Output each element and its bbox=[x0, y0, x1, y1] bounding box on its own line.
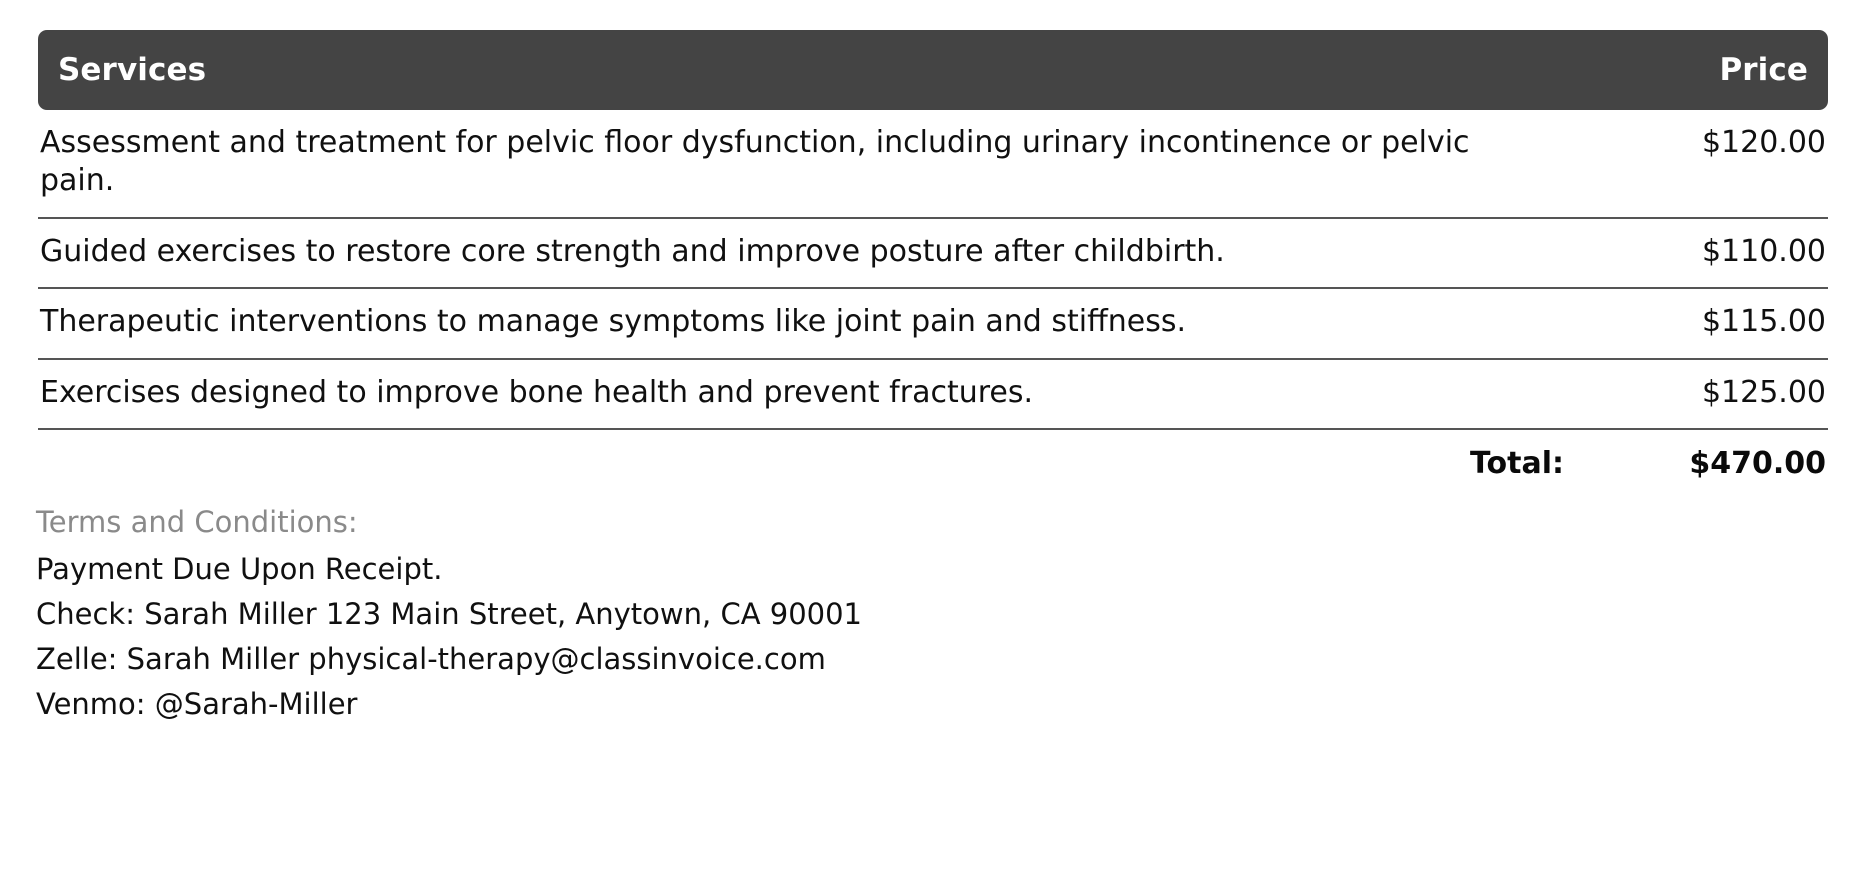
total-row: Total: $470.00 bbox=[38, 430, 1828, 481]
table-header-row: Services Price bbox=[38, 30, 1828, 110]
table-body: Assessment and treatment for pelvic floo… bbox=[38, 110, 1828, 430]
terms-line-payment-due: Payment Due Upon Receipt. bbox=[36, 547, 1436, 592]
service-description: Exercises designed to improve bone healt… bbox=[38, 374, 1033, 412]
table-row: Exercises designed to improve bone healt… bbox=[38, 360, 1828, 430]
column-header-services: Services bbox=[58, 55, 206, 86]
invoice-services-page: Services Price Assessment and treatment … bbox=[0, 0, 1868, 870]
terms-line-venmo: Venmo: @Sarah-Miller bbox=[36, 682, 1436, 727]
service-price: $115.00 bbox=[1646, 303, 1828, 341]
service-description: Therapeutic interventions to manage symp… bbox=[38, 303, 1186, 341]
table-row: Guided exercises to restore core strengt… bbox=[38, 219, 1828, 289]
service-price: $120.00 bbox=[1646, 124, 1828, 162]
service-description: Assessment and treatment for pelvic floo… bbox=[38, 124, 1470, 201]
service-price: $110.00 bbox=[1646, 233, 1828, 271]
table-row: Assessment and treatment for pelvic floo… bbox=[38, 110, 1828, 219]
table-row: Therapeutic interventions to manage symp… bbox=[38, 289, 1828, 359]
column-header-price: Price bbox=[1719, 55, 1808, 86]
terms-and-conditions-section: Terms and Conditions: Payment Due Upon R… bbox=[36, 500, 1436, 727]
total-label: Total: bbox=[1470, 446, 1564, 481]
total-amount: $470.00 bbox=[1646, 446, 1828, 481]
service-description: Guided exercises to restore core strengt… bbox=[38, 233, 1225, 271]
terms-line-check: Check: Sarah Miller 123 Main Street, Any… bbox=[36, 592, 1436, 637]
terms-heading: Terms and Conditions: bbox=[36, 500, 1436, 545]
services-price-table: Services Price Assessment and treatment … bbox=[38, 30, 1828, 481]
service-price: $125.00 bbox=[1646, 374, 1828, 412]
terms-line-zelle: Zelle: Sarah Miller physical-therapy@cla… bbox=[36, 637, 1436, 682]
